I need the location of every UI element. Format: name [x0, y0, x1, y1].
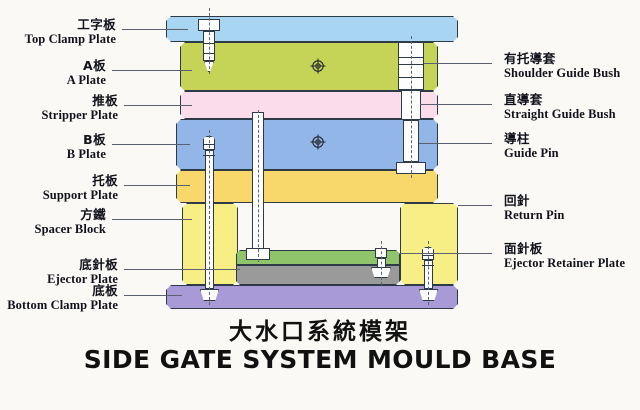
sprue-centerline: [209, 8, 210, 74]
label-spacer-block-en: Spacer Block: [35, 222, 106, 236]
label-support-plate-en: Support Plate: [43, 188, 118, 202]
leader-stripper-plate: [124, 105, 192, 106]
label-b-plate-cn: B板: [67, 133, 106, 147]
label-guide-pin: 導柱 Guide Pin: [504, 132, 559, 160]
label-shoulder-guide-bush-cn: 有托導套: [504, 52, 620, 66]
leader-straight-guide-bush: [420, 104, 492, 105]
label-bottom-clamp-plate: 底板 Bottom Clamp Plate: [7, 284, 118, 312]
leader-spacer-block: [112, 219, 192, 220]
label-shoulder-guide-bush: 有托導套 Shoulder Guide Bush: [504, 52, 620, 80]
leader-b-plate: [112, 144, 190, 145]
label-support-plate: 托板 Support Plate: [43, 174, 118, 202]
label-a-plate: A板 A Plate: [67, 59, 106, 87]
label-ejector-retainer-plate: 面針板 Ejector Retainer Plate: [504, 242, 625, 270]
leader-top-clamp-plate: [122, 29, 188, 30]
guide-pin-centerline: [411, 36, 412, 178]
label-shoulder-guide-bush-en: Shoulder Guide Bush: [504, 66, 620, 80]
label-return-pin: 回針 Return Pin: [504, 194, 564, 222]
target-crosshair-b-plate: [310, 134, 326, 150]
leader-a-plate: [112, 70, 192, 71]
label-ejector-plate: 底針板 Ejector Plate: [47, 258, 118, 286]
leader-guide-pin: [419, 143, 492, 144]
label-return-pin-cn: 回針: [504, 194, 564, 208]
leader-ejector-retainer-plate: [400, 253, 492, 254]
part-support-plate: [176, 170, 438, 203]
label-return-pin-en: Return Pin: [504, 208, 564, 222]
label-a-plate-cn: A板: [67, 59, 106, 73]
part-stripper-plate: [180, 91, 438, 119]
label-guide-pin-cn: 導柱: [504, 132, 559, 146]
label-ejector-plate-cn: 底針板: [47, 258, 118, 272]
label-ejector-retainer-plate-en: Ejector Retainer Plate: [504, 256, 625, 270]
label-bottom-clamp-plate-en: Bottom Clamp Plate: [7, 298, 118, 312]
label-spacer-block: 方鐵 Spacer Block: [35, 208, 106, 236]
label-stripper-plate: 推板 Stripper Plate: [41, 94, 118, 122]
label-stripper-plate-cn: 推板: [41, 94, 118, 108]
label-stripper-plate-en: Stripper Plate: [41, 108, 118, 122]
ejector-pin-centerline: [209, 130, 210, 305]
label-guide-pin-en: Guide Pin: [504, 146, 559, 160]
label-top-clamp-plate: 工字板 Top Clamp Plate: [25, 18, 116, 46]
label-straight-guide-bush: 直導套 Straight Guide Bush: [504, 93, 616, 121]
label-straight-guide-bush-cn: 直導套: [504, 93, 616, 107]
target-crosshair-a-plate: [310, 58, 326, 74]
label-support-plate-cn: 托板: [43, 174, 118, 188]
label-ejector-retainer-plate-cn: 面針板: [504, 242, 625, 256]
label-a-plate-en: A Plate: [67, 73, 106, 87]
support-screw-centerline: [428, 241, 429, 305]
leader-bottom-clamp-plate: [124, 295, 182, 296]
label-b-plate: B板 B Plate: [67, 133, 106, 161]
title-english: SIDE GATE SYSTEM MOULD BASE: [0, 345, 640, 374]
leader-return-pin: [458, 205, 492, 206]
label-spacer-block-cn: 方鐵: [35, 208, 106, 222]
title-chinese: 大水口系統模架: [0, 312, 640, 346]
label-bottom-clamp-plate-cn: 底板: [7, 284, 118, 298]
leader-shoulder-guide-bush: [424, 63, 492, 64]
leader-ejector-plate: [124, 269, 240, 270]
label-b-plate-en: B Plate: [67, 147, 106, 161]
leader-support-plate: [124, 185, 190, 186]
mould-base-diagram: 工字板 Top Clamp Plate A板 A Plate 推板 Stripp…: [0, 0, 640, 410]
center-ejector-centerline: [258, 110, 259, 262]
label-straight-guide-bush-en: Straight Guide Bush: [504, 107, 616, 121]
label-top-clamp-plate-cn: 工字板: [25, 18, 116, 32]
label-top-clamp-plate-en: Top Clamp Plate: [25, 32, 116, 46]
return-pin-centerline: [381, 241, 382, 285]
